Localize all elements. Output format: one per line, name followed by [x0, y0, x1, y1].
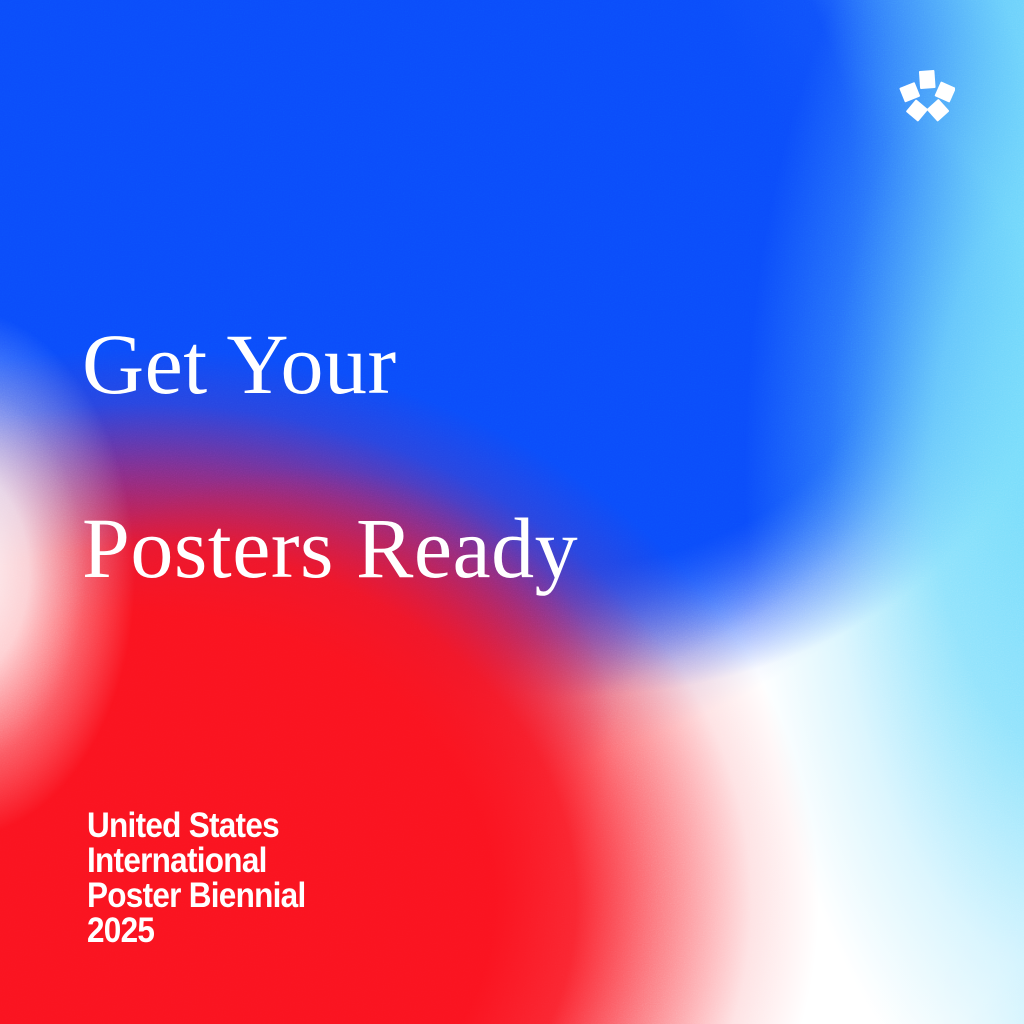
poster-footer-text: United States International Poster Bienn… [87, 808, 306, 948]
logo-petal-4 [906, 99, 929, 122]
poster-canvas: Get Your Posters Ready United States Int… [0, 0, 1024, 1024]
headline-line-1: Get Your [82, 318, 842, 410]
logo-petal-1 [919, 70, 936, 89]
headline-line-2: Posters Ready [82, 502, 842, 594]
footer-line-3: Poster Biennial [87, 878, 306, 913]
poster-headline: Get Your Posters Ready [82, 226, 842, 686]
logo-petal-3 [927, 99, 950, 122]
footer-line-1: United States [87, 808, 306, 843]
five-square-pinwheel-logo-icon [899, 69, 955, 129]
footer-line-2: International [87, 843, 306, 878]
logo-petal-5 [899, 82, 920, 103]
footer-line-4: 2025 [87, 913, 306, 948]
logo-petal-2 [934, 81, 955, 102]
